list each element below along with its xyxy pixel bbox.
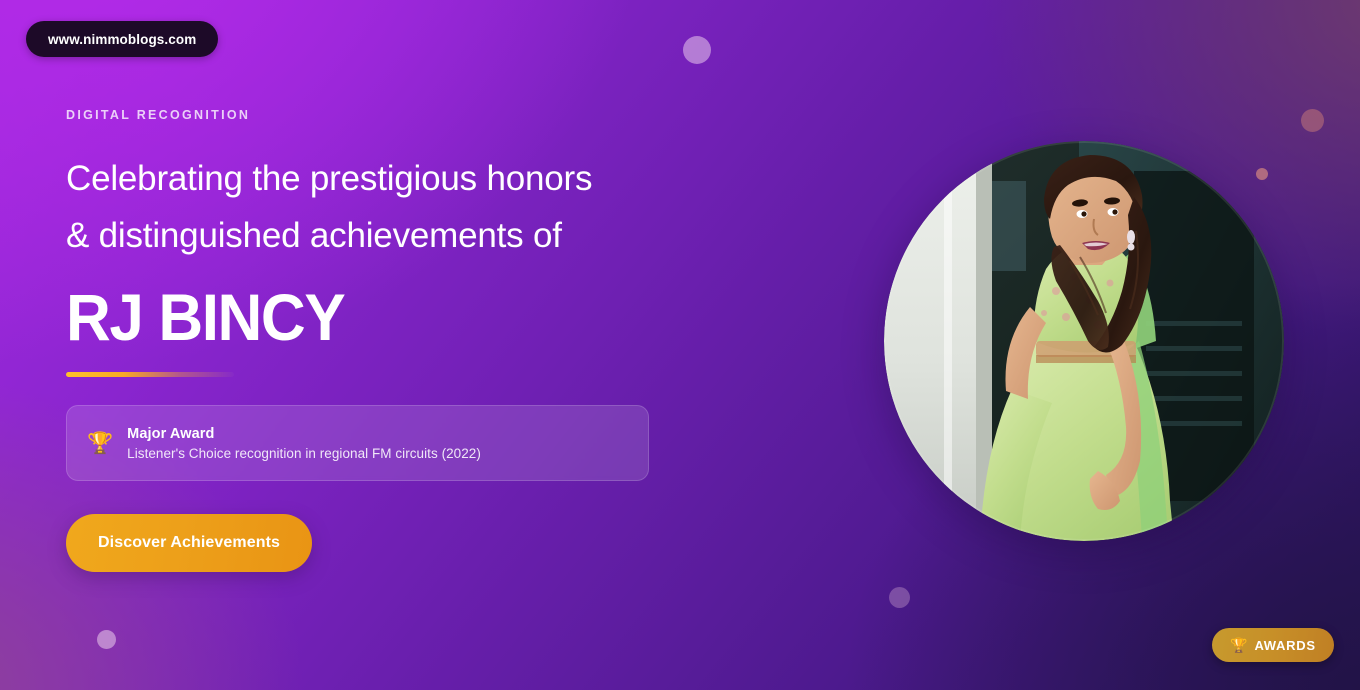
discover-achievements-button[interactable]: Discover Achievements xyxy=(66,514,312,572)
hero-banner: www.nimmoblogs.com DIGITAL RECOGNITION C… xyxy=(0,0,1360,690)
trophy-icon: 🏆 xyxy=(1230,638,1247,652)
decorative-dot xyxy=(889,587,910,608)
headline-line-2: & distinguished achievements of xyxy=(66,207,706,264)
page-title: RJ BINCY xyxy=(66,284,668,350)
trophy-icon: 🏆 xyxy=(87,433,113,454)
decorative-dot xyxy=(683,36,711,64)
name-underline xyxy=(66,372,234,377)
portrait-illustration xyxy=(884,141,1284,541)
decorative-dot xyxy=(1256,168,1268,180)
site-url-label: www.nimmoblogs.com xyxy=(48,32,196,47)
award-text: Major Award Listener's Choice recognitio… xyxy=(127,426,481,461)
site-url-pill[interactable]: www.nimmoblogs.com xyxy=(26,21,218,57)
decorative-dot xyxy=(1301,109,1324,132)
award-title: Major Award xyxy=(127,426,481,442)
decorative-dot xyxy=(97,630,116,649)
award-description: Listener's Choice recognition in regiona… xyxy=(127,446,481,461)
headline-line-1: Celebrating the prestigious honors xyxy=(66,150,706,207)
name-block: RJ BINCY xyxy=(66,284,706,377)
awards-badge[interactable]: 🏆 AWARDS xyxy=(1212,628,1334,662)
awards-badge-label: AWARDS xyxy=(1254,638,1315,653)
eyebrow-label: DIGITAL RECOGNITION xyxy=(66,108,706,122)
avatar xyxy=(884,141,1284,541)
award-card[interactable]: 🏆 Major Award Listener's Choice recognit… xyxy=(66,405,649,481)
hero-content: DIGITAL RECOGNITION Celebrating the pres… xyxy=(66,108,706,377)
